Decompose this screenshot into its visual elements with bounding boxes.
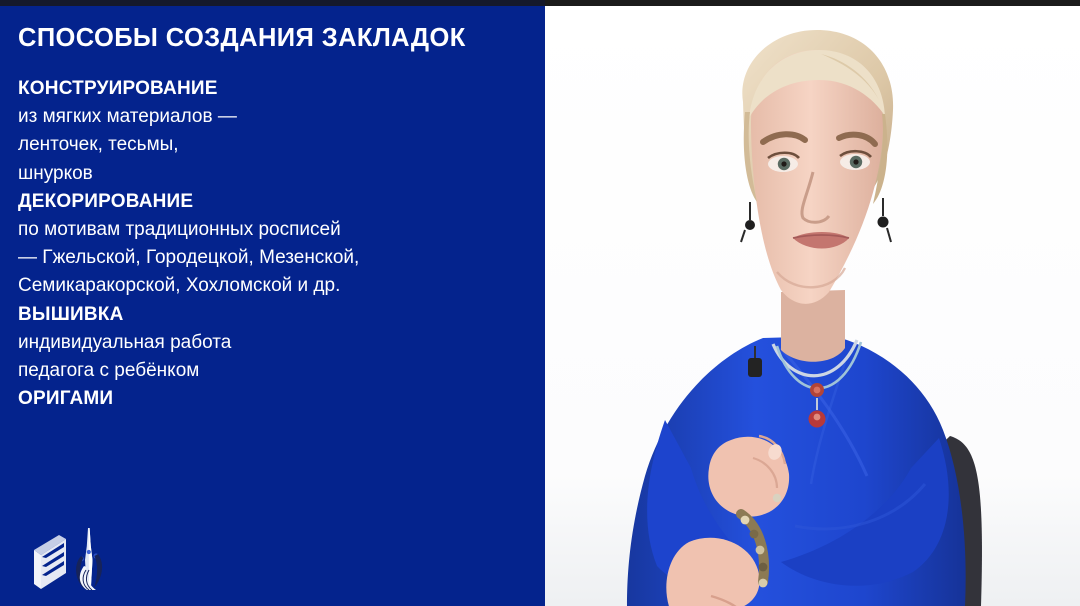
presenter-video-frame — [545, 6, 1080, 606]
slide-line: КОНСТРУИРОВАНИЕ — [18, 75, 528, 103]
slide-line: шнурков — [18, 160, 528, 188]
slide-line: по мотивам традиционных росписей — [18, 216, 528, 244]
presentation-screen: СПОСОБЫ СОЗДАНИЯ ЗАКЛАДОК КОНСТРУИРОВАНИ… — [0, 0, 1080, 606]
slide-line: ВЫШИВКА — [18, 301, 528, 329]
book-icon — [34, 535, 66, 589]
slide-line: индивидуальная работа — [18, 329, 528, 357]
slide-body: КОНСТРУИРОВАНИЕ из мягких материалов — л… — [18, 75, 528, 413]
slide-line: ОРИГАМИ — [18, 385, 528, 413]
video-feed[interactable] — [545, 6, 1080, 606]
slide-line: из мягких материалов — — [18, 103, 528, 131]
slide-title: СПОСОБЫ СОЗДАНИЯ ЗАКЛАДОК — [18, 24, 528, 52]
institute-logo — [28, 526, 118, 594]
slide-line: ДЕКОРИРОВАНИЕ — [18, 188, 528, 216]
slide-line: ленточек, тесьмы, — [18, 131, 528, 159]
slide-panel: СПОСОБЫ СОЗДАНИЯ ЗАКЛАДОК КОНСТРУИРОВАНИ… — [0, 6, 545, 606]
logo-icon — [28, 526, 118, 594]
slide-line: педагога с ребёнком — [18, 357, 528, 385]
slide-line: — Гжельской, Городецкой, Мезенской, — [18, 244, 528, 272]
slide-line: Семикаракорской, Хохломской и др. — [18, 272, 528, 300]
